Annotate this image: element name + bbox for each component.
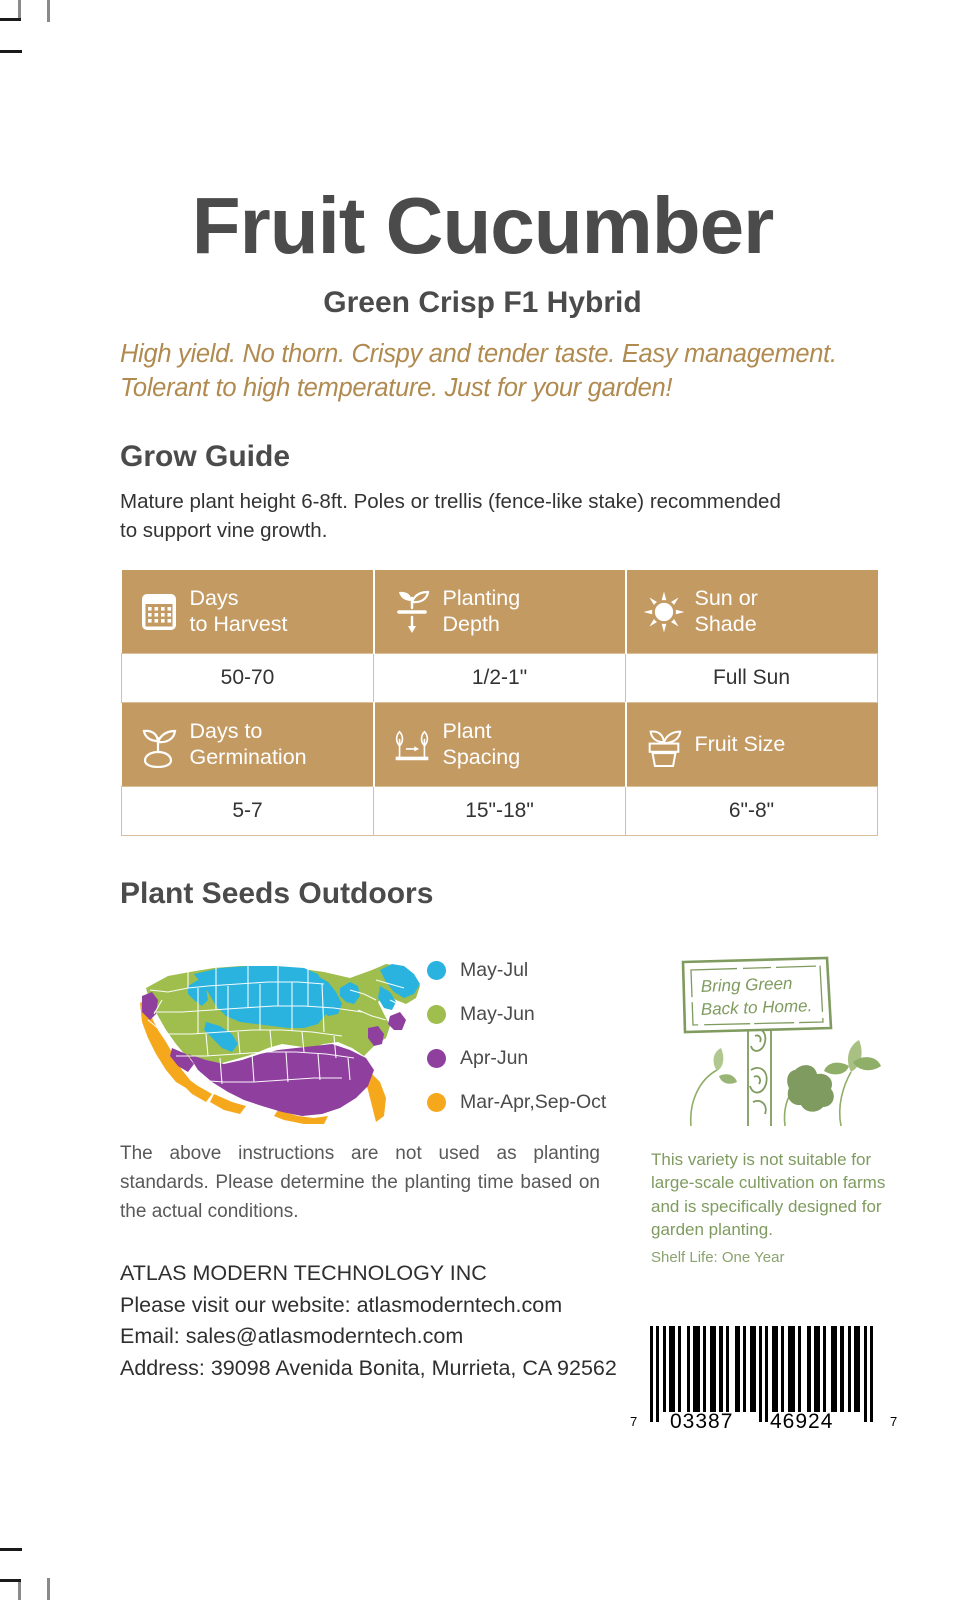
legend-item: Mar-Apr,Sep-Oct xyxy=(427,1080,642,1124)
plant-outdoors-heading: Plant Seeds Outdoors xyxy=(120,877,433,911)
table-value-row-2: 5-7 15"-18" 6"-8" xyxy=(122,787,878,836)
barcode-group-1: 03387 xyxy=(670,1410,733,1434)
map-legend: May-Jul May-Jun Apr-Jun Mar-Apr,Sep-Oct xyxy=(427,948,642,1124)
header-line-2: Depth xyxy=(443,612,500,636)
crop-mark-bl-h xyxy=(0,1548,22,1551)
calendar-icon xyxy=(138,589,180,635)
header-label-days-to-germination: Days to Germination xyxy=(190,719,307,770)
company-email: Email: sales@atlasmoderntech.com xyxy=(120,1321,617,1353)
legend-item: Apr-Jun xyxy=(427,1036,642,1080)
header-line-2: Germination xyxy=(190,745,307,769)
header-cell-fruit-size: Fruit Size xyxy=(626,703,878,787)
legend-item: May-Jun xyxy=(427,992,642,1036)
shelf-life-text: Shelf Life: One Year xyxy=(651,1249,889,1266)
header-cell-plant-spacing: Plant Spacing xyxy=(374,703,626,787)
table-header-row-2: Days to Germination xyxy=(122,703,878,787)
sun-icon xyxy=(643,589,685,635)
sign-text-line-2: Back to Home. xyxy=(700,996,812,1019)
svg-text:Bring Green: Bring Green xyxy=(700,974,792,996)
sign-text-line-1: Bring Green xyxy=(700,974,792,996)
sprout-left-leaves xyxy=(714,1048,737,1084)
planting-disclaimer: The above instructions are not used as p… xyxy=(120,1140,600,1227)
header-line-1: Sun or xyxy=(695,586,758,610)
header-line-1: Days to xyxy=(190,719,263,743)
legend-color-swatch xyxy=(427,1005,446,1024)
header-cell-days-to-harvest: Days to Harvest xyxy=(122,570,374,654)
header-line-1: Plant xyxy=(443,719,492,743)
seed-packet-back: Fruit Cucumber Green Crisp F1 Hybrid Hig… xyxy=(0,0,965,1600)
legend-label: Mar-Apr,Sep-Oct xyxy=(460,1091,606,1114)
garden-sign-illustration: Bring Green Back to Home. xyxy=(645,930,890,1162)
plant-spacing-icon xyxy=(391,722,433,768)
company-name: ATLAS MODERN TECHNOLOGY INC xyxy=(120,1258,617,1290)
crop-mark-tl-v xyxy=(47,0,50,22)
value-plant-spacing: 15"-18" xyxy=(374,787,626,836)
sprout-right xyxy=(824,1040,881,1126)
header-label-days-to-harvest: Days to Harvest xyxy=(190,586,288,637)
svg-text:Back to Home.: Back to Home. xyxy=(700,996,812,1019)
sign-note-block: This variety is not suitable for large-s… xyxy=(651,1148,889,1266)
header-line-2: Shade xyxy=(695,612,757,636)
header-line-1: Days xyxy=(190,586,239,610)
barcode-right-digit: 7 xyxy=(890,1414,897,1429)
legend-item: May-Jul xyxy=(427,948,642,992)
company-address: Address: 39098 Avenida Bonita, Murrieta,… xyxy=(120,1353,617,1385)
legend-color-swatch xyxy=(427,1049,446,1068)
barcode-group-2: 46924 xyxy=(770,1410,833,1434)
crop-mark-bl-corner-h xyxy=(0,1579,21,1582)
company-website: Please visit our website: atlasmoderntec… xyxy=(120,1290,617,1322)
header-label-sun-or-shade: Sun or Shade xyxy=(695,586,758,637)
barcode: 7 03387 46924 7 xyxy=(622,1326,922,1444)
header-line-1: Planting xyxy=(443,586,521,610)
legend-color-swatch xyxy=(427,1093,446,1112)
header-cell-planting-depth: Planting Depth xyxy=(374,570,626,654)
legend-label: May-Jul xyxy=(460,959,528,982)
header-label-fruit-size: Fruit Size xyxy=(695,732,786,757)
legend-label: Apr-Jun xyxy=(460,1047,528,1070)
sign-note: This variety is not suitable for large-s… xyxy=(651,1148,889,1242)
header-line-2: to Harvest xyxy=(190,612,288,636)
planting-zone-map xyxy=(128,930,428,1125)
company-info: ATLAS MODERN TECHNOLOGY INC Please visit… xyxy=(120,1258,617,1384)
grow-guide-note: Mature plant height 6-8ft. Poles or trel… xyxy=(120,488,800,545)
header-cell-days-to-germination: Days to Germination xyxy=(122,703,374,787)
crop-mark-bl-corner-v xyxy=(18,1579,21,1600)
crop-mark-bl-v xyxy=(47,1578,50,1600)
potted-plant-icon xyxy=(643,722,685,768)
planting-depth-icon xyxy=(391,589,433,635)
value-fruit-size: 6"-8" xyxy=(626,787,878,836)
tagline: High yield. No thorn. Crispy and tender … xyxy=(120,338,890,406)
page-title: Fruit Cucumber xyxy=(0,186,965,266)
table-value-row-1: 50-70 1/2-1" Full Sun xyxy=(122,654,878,703)
sprout-seed-icon xyxy=(138,722,180,768)
clover-plant xyxy=(784,1065,833,1126)
crop-mark-tl-h xyxy=(0,50,22,53)
value-days-to-harvest: 50-70 xyxy=(122,654,374,703)
crop-mark-tl-corner-h xyxy=(0,18,21,21)
grow-guide-table: Days to Harvest xyxy=(121,570,878,836)
value-days-to-germination: 5-7 xyxy=(122,787,374,836)
barcode-left-digit: 7 xyxy=(630,1414,637,1429)
header-label-planting-depth: Planting Depth xyxy=(443,586,521,637)
table-header-row-1: Days to Harvest xyxy=(122,570,878,654)
header-line-2: Spacing xyxy=(443,745,521,769)
barcode-bars xyxy=(650,1326,873,1422)
value-planting-depth: 1/2-1" xyxy=(374,654,626,703)
legend-color-swatch xyxy=(427,961,446,980)
header-label-plant-spacing: Plant Spacing xyxy=(443,719,521,770)
page-subtitle: Green Crisp F1 Hybrid xyxy=(0,286,965,320)
header-cell-sun-or-shade: Sun or Shade xyxy=(626,570,878,654)
legend-label: May-Jun xyxy=(460,1003,535,1026)
grow-guide-heading: Grow Guide xyxy=(120,440,290,474)
sprout-left xyxy=(691,1070,717,1126)
value-sun-or-shade: Full Sun xyxy=(626,654,878,703)
